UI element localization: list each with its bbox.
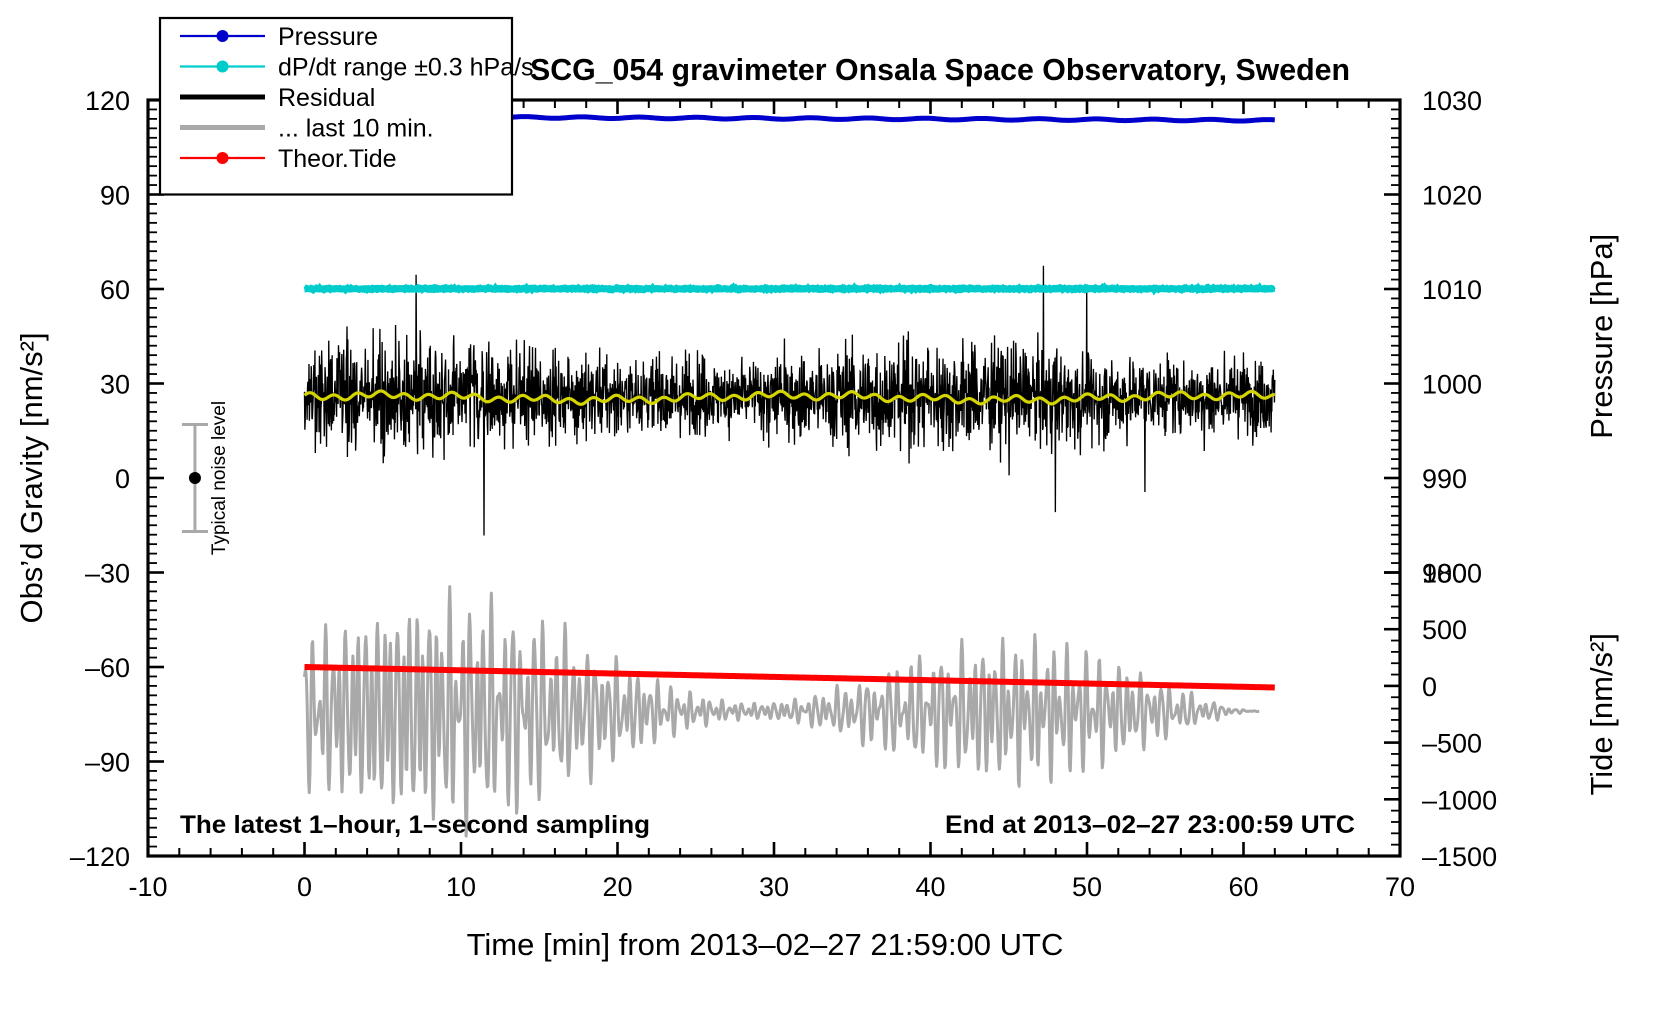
y-tick-label: –60 [85,653,130,683]
legend-item-label[interactable]: ... last 10 min. [278,115,434,143]
x-tick-label: 30 [759,872,789,902]
x-tick-label: 10 [446,872,476,902]
plot-title: SCG_054 gravimeter Onsala Space Observat… [530,52,1350,87]
x-tick-label: 70 [1385,872,1415,902]
x-tick-label: 40 [915,872,945,902]
right-tide-tick-label: 500 [1422,615,1467,645]
y-tick-label: –90 [85,748,130,778]
legend-item-label[interactable]: Theor.Tide [278,145,397,173]
right-pressure-axis-title: Pressure [hPa] [1584,234,1619,439]
x-tick-label: 50 [1072,872,1102,902]
y-tick-label: –120 [70,842,130,872]
y-tick-label: 60 [100,275,130,305]
right-tide-tick-label: –1000 [1422,785,1497,815]
right-tide-tick-label: –1500 [1422,842,1497,872]
right-pressure-tick-label: 1030 [1422,86,1482,116]
y-tick-label: 0 [115,464,130,494]
right-pressure-tick-label: 990 [1422,464,1467,494]
y-tick-label: 120 [85,86,130,116]
x-tick-label: -10 [128,872,167,902]
right-pressure-tick-label: 1010 [1422,275,1482,305]
y-axis-title: Obs’d Gravity [nm/s²] [14,332,49,623]
legend-item-label[interactable]: dP/dt range ±0.3 hPa/s [278,54,534,82]
legend-item-label[interactable]: Pressure [278,23,378,51]
x-axis-title: Time [min] from 2013–02–27 21:59:00 UTC [467,927,1064,962]
gravimeter-chart: -100102030405060701209060300–30–60–90–12… [0,0,1660,1020]
right-tide-axis-title: Tide [nm/s²] [1584,633,1619,796]
right-tide-tick-label: –500 [1422,729,1482,759]
x-tick-label: 60 [1228,872,1258,902]
legend-item-label[interactable]: Residual [278,84,375,112]
y-tick-label: –30 [85,559,130,589]
noise-level-label: Typical noise level [209,401,230,555]
y-tick-label: 90 [100,181,130,211]
legend-swatch-marker [217,61,229,73]
annotation-bottom-right: End at 2013–02–27 23:00:59 UTC [945,811,1355,839]
right-pressure-tick-label: 1020 [1422,181,1482,211]
right-tide-tick-label: 0 [1422,672,1437,702]
noise-errorbar-point [189,472,201,484]
right-tide-tick-label: 1000 [1422,559,1482,589]
y-tick-label: 30 [100,370,130,400]
legend-swatch-marker [217,30,229,42]
chart-page: -100102030405060701209060300–30–60–90–12… [0,0,1660,1020]
right-pressure-tick-label: 1000 [1422,370,1482,400]
annotation-bottom-left: The latest 1–hour, 1–second sampling [180,811,650,839]
legend-swatch-marker [217,152,229,164]
x-tick-label: 20 [602,872,632,902]
x-tick-label: 0 [297,872,312,902]
